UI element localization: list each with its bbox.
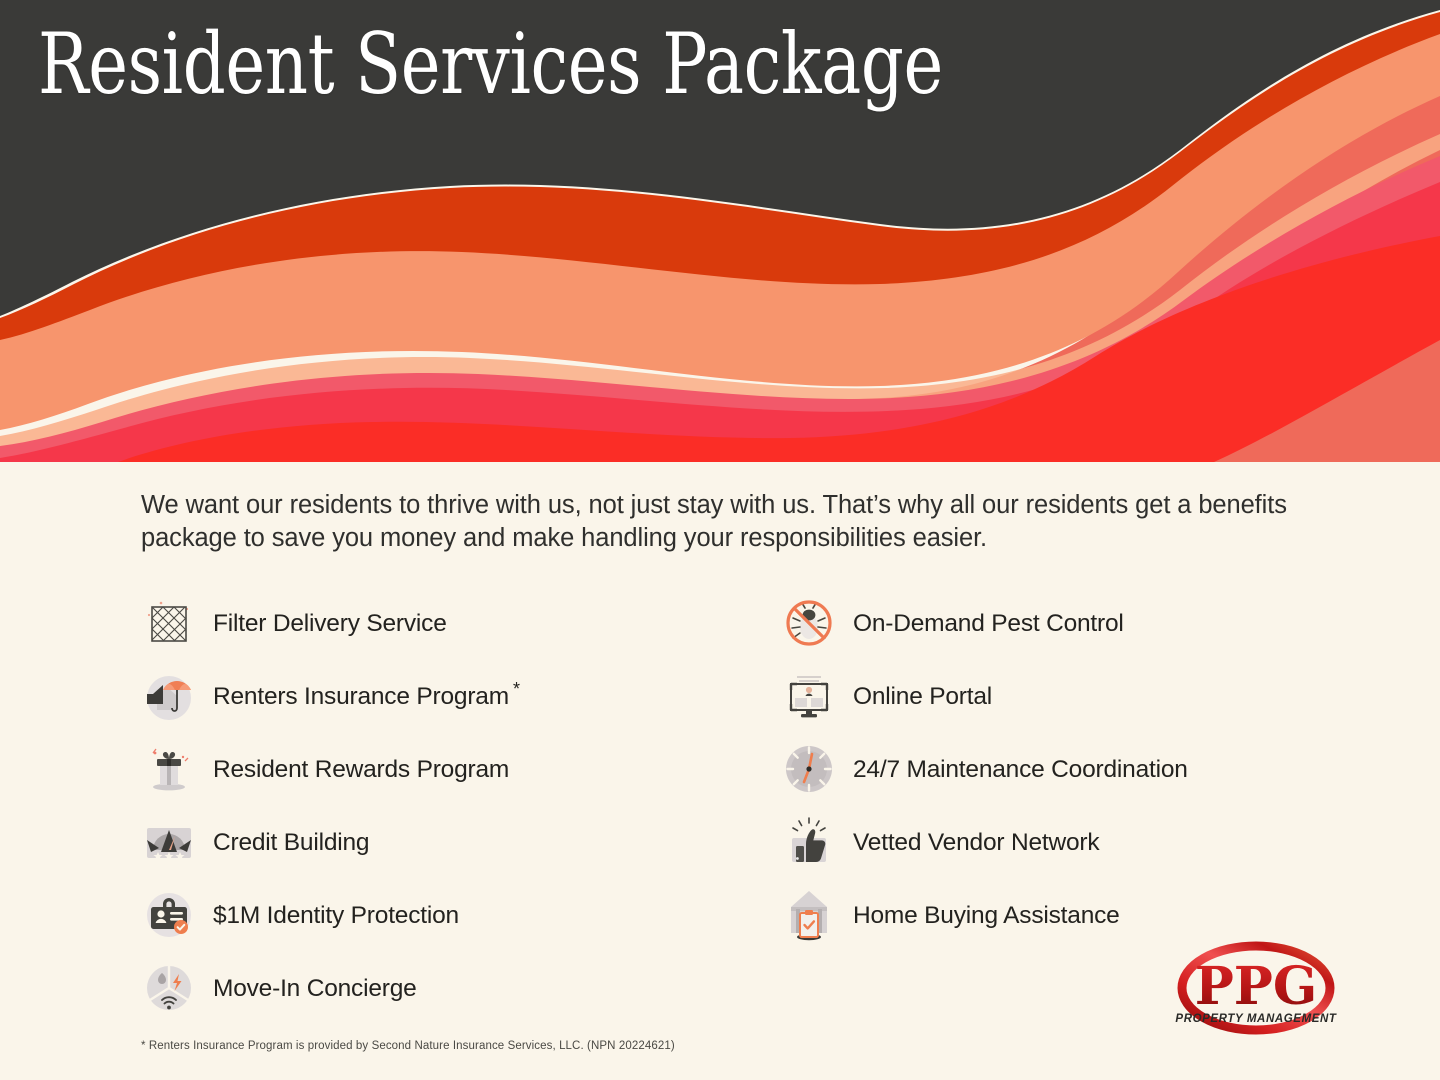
feature-label-text: Online Portal bbox=[853, 684, 992, 711]
feature-label-text: Resident Rewards Program bbox=[213, 757, 509, 784]
feature-label-text: Move-In Concierge bbox=[213, 976, 417, 1003]
desktop-portal-icon bbox=[781, 668, 837, 724]
feature-label-text: 24/7 Maintenance Coordination bbox=[853, 757, 1188, 784]
air-filter-icon bbox=[141, 595, 197, 651]
feature-label: $1M Identity Protection bbox=[213, 898, 463, 930]
feature-label-asterisk: * bbox=[513, 679, 520, 699]
feature-item-renters-insurance-program[interactable]: Renters Insurance Program* bbox=[141, 659, 761, 732]
feature-item-credit-building[interactable]: Credit Building bbox=[141, 805, 761, 878]
feature-label: Credit Building bbox=[213, 825, 373, 857]
feature-item-vetted-vendor-network[interactable]: Vetted Vendor Network bbox=[781, 805, 1401, 878]
feature-item-online-portal[interactable]: Online Portal bbox=[781, 659, 1401, 732]
thumbs-up-icon bbox=[781, 814, 837, 870]
umbrella-house-icon bbox=[141, 668, 197, 724]
feature-list-left: Filter Delivery Service Renters Insuranc… bbox=[141, 586, 761, 1024]
feature-label-text: Filter Delivery Service bbox=[213, 611, 447, 638]
header-wave-band: Resident Services Package bbox=[0, 0, 1440, 462]
ppg-logo-mark: PPG bbox=[1195, 956, 1318, 1017]
gift-box-icon bbox=[141, 741, 197, 797]
clock-icon bbox=[781, 741, 837, 797]
feature-label-text: $1M Identity Protection bbox=[213, 903, 459, 930]
slide-root: Resident Services Package We want our re… bbox=[0, 0, 1440, 1080]
feature-label: Filter Delivery Service bbox=[213, 606, 451, 638]
page-title: Resident Services Package bbox=[38, 22, 943, 108]
feature-label: 24/7 Maintenance Coordination bbox=[853, 752, 1192, 784]
feature-item-filter-delivery-service[interactable]: Filter Delivery Service bbox=[141, 586, 761, 659]
feature-list-right: On-Demand Pest Control bbox=[781, 586, 1401, 951]
id-badge-shield-icon bbox=[141, 887, 197, 943]
intro-paragraph: We want our residents to thrive with us,… bbox=[141, 489, 1306, 555]
utilities-wifi-icon bbox=[141, 960, 197, 1016]
feature-label: On-Demand Pest Control bbox=[853, 606, 1128, 638]
feature-label-text: On-Demand Pest Control bbox=[853, 611, 1124, 638]
feature-label-text: Renters Insurance Program bbox=[213, 684, 509, 711]
feature-label: Online Portal bbox=[853, 679, 996, 711]
feature-label: Resident Rewards Program bbox=[213, 752, 513, 784]
ppg-logo-tagline: PROPERTY MANAGEMENT bbox=[1175, 1013, 1337, 1025]
feature-item-identity-protection[interactable]: $1M Identity Protection bbox=[141, 878, 761, 951]
feature-item-maintenance-coordination[interactable]: 24/7 Maintenance Coordination bbox=[781, 732, 1401, 805]
feature-label-text: Home Buying Assistance bbox=[853, 903, 1120, 930]
feature-label-text: Vetted Vendor Network bbox=[853, 830, 1099, 857]
feature-label: Move-In Concierge bbox=[213, 971, 421, 1003]
feature-label-text: Credit Building bbox=[213, 830, 369, 857]
feature-item-on-demand-pest-control[interactable]: On-Demand Pest Control bbox=[781, 586, 1401, 659]
footnote-text: * Renters Insurance Program is provided … bbox=[141, 1040, 675, 1052]
feature-item-move-in-concierge[interactable]: Move-In Concierge bbox=[141, 951, 761, 1024]
feature-label: Home Buying Assistance bbox=[853, 898, 1124, 930]
feature-label: Renters Insurance Program* bbox=[213, 679, 520, 711]
no-pest-icon bbox=[781, 595, 837, 651]
home-clipboard-icon bbox=[781, 887, 837, 943]
ppg-logo: PPG PROPERTY MANAGEMENT bbox=[1172, 938, 1340, 1038]
feature-label: Vetted Vendor Network bbox=[853, 825, 1103, 857]
feature-item-resident-rewards-program[interactable]: Resident Rewards Program bbox=[141, 732, 761, 805]
credit-gauge-icon bbox=[141, 814, 197, 870]
